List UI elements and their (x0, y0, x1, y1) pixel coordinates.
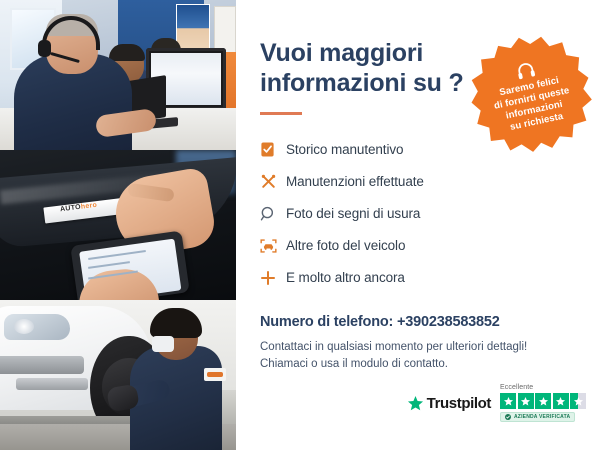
photo-column: AUTOhero (0, 0, 236, 450)
verified-label: AZIENDA VERIFICATA (514, 414, 570, 420)
trustpilot-rating[interactable]: Trustpilot Eccellente (407, 384, 586, 422)
star-icon-half (570, 393, 586, 409)
star-icon (407, 395, 424, 412)
tools-cross-icon (260, 173, 286, 190)
callout-badge: Saremo felici di fornirti queste informa… (459, 23, 600, 168)
headline-line-1: Vuoi maggiori (260, 39, 423, 67)
call-center-agents-photo (0, 0, 236, 150)
promo-card: AUTOhero (0, 0, 600, 450)
phone-number[interactable]: +390238583852 (397, 314, 500, 330)
trustpilot-wordmark: Trustpilot (427, 395, 491, 412)
mechanic-face-mask (152, 336, 174, 352)
list-item: Altre foto del veicolo (260, 231, 578, 260)
feature-list: Storico manutentivo Manutenzioni effettu… (260, 135, 578, 292)
contact-note-line-2: Chiamaci o usa il modulo di contatto. (260, 358, 448, 370)
star-icon (518, 393, 534, 409)
trustpilot-logo: Trustpilot (407, 395, 491, 412)
sticker-on-car-photo: AUTOhero (0, 150, 236, 300)
star-icon (500, 393, 516, 409)
agent-headset-earcup (38, 40, 51, 57)
car-grille-lower (16, 378, 88, 390)
star-icon (535, 393, 551, 409)
car-grille-upper (0, 356, 84, 374)
check-circle-icon (505, 414, 511, 420)
feature-label: Storico manutentivo (286, 142, 403, 157)
feature-label: Altre foto del veicolo (286, 238, 405, 253)
car-scan-frame-icon (260, 238, 286, 254)
phone-line: Numero di telefono: +390238583852 (260, 314, 578, 330)
uniform-logo-patch (204, 368, 226, 381)
list-item: Manutenzioni effettuate (260, 167, 578, 196)
colleague-hair (109, 44, 145, 61)
feature-label: E molto altro ancora (286, 270, 405, 285)
phone-label: Numero di telefono: (260, 314, 393, 330)
headline-line-2: informazioni su ? (260, 69, 464, 97)
trustpilot-rating-label: Eccellente (500, 384, 533, 391)
title-underline-rule (260, 112, 302, 115)
plus-icon (260, 270, 286, 286)
trustpilot-score-block: Eccellente (500, 384, 586, 422)
list-item: E molto altro ancora (260, 263, 578, 292)
feature-label: Foto dei segni di usura (286, 206, 420, 221)
magnifier-icon (260, 206, 286, 222)
feature-label: Manutenzioni effettuate (286, 174, 424, 189)
trustpilot-stars (500, 393, 586, 409)
list-item: Foto dei segni di usura (260, 199, 578, 228)
page-title: Vuoi maggiori informazioni su ? (260, 38, 470, 98)
headset-icon (514, 59, 537, 81)
contact-note-line-1: Contattaci in qualsiasi momento per ulte… (260, 341, 527, 353)
info-panel: Vuoi maggiori informazioni su ? Saremo f… (236, 0, 600, 450)
contact-note: Contattaci in qualsiasi momento per ulte… (260, 339, 578, 374)
car-headlight (4, 314, 70, 340)
mechanic-wheel-inspection-photo (0, 300, 236, 450)
star-icon (553, 393, 569, 409)
clipboard-check-icon (260, 141, 286, 158)
verified-business-badge: AZIENDA VERIFICATA (500, 412, 575, 422)
